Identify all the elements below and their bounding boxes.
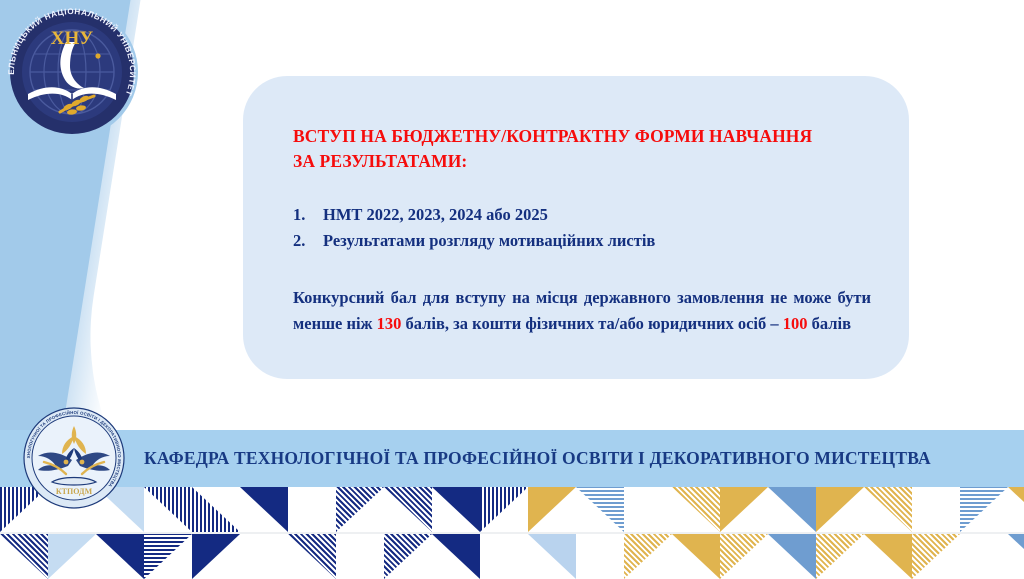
band-row-bottom <box>0 534 1024 579</box>
pattern-triangle <box>816 487 864 532</box>
pattern-triangle <box>384 487 432 532</box>
pattern-triangle <box>240 534 288 579</box>
card-heading-line1: ВСТУП НА БЮДЖЕТНУ/КОНТРАКТНУ ФОРМИ НАВЧА… <box>293 126 812 146</box>
pattern-triangle <box>1008 487 1024 532</box>
card-heading: ВСТУП НА БЮДЖЕТНУ/КОНТРАКТНУ ФОРМИ НАВЧА… <box>293 124 871 174</box>
score-requirement-paragraph: Конкурсний бал для вступу на місця держа… <box>293 285 871 337</box>
pattern-triangle <box>768 487 816 532</box>
pattern-triangle <box>672 534 720 579</box>
list-item-number: 2. <box>293 228 311 255</box>
pattern-triangle <box>1008 534 1024 579</box>
slide-root: ХНУ ХМЕЛЬНИЦЬКИЙ НАЦІОНАЛЬНИЙ УНІВЕРСИТЕ… <box>0 0 1024 579</box>
pattern-triangle <box>384 534 432 579</box>
pattern-triangle <box>768 534 816 579</box>
pattern-triangle <box>336 534 384 579</box>
university-logo: ХНУ ХМЕЛЬНИЦЬКИЙ НАЦІОНАЛЬНИЙ УНІВЕРСИТЕ… <box>2 2 142 142</box>
card-heading-line2: ЗА РЕЗУЛЬТАТАМИ: <box>293 151 467 171</box>
pattern-triangle <box>0 534 48 579</box>
pattern-triangle <box>960 534 1008 579</box>
list-item: 1. НМТ 2022, 2023, 2024 або 2025 <box>293 202 871 229</box>
pattern-triangle <box>528 487 576 532</box>
pattern-triangle <box>816 534 864 579</box>
pattern-triangle <box>480 534 528 579</box>
pattern-triangle <box>96 534 144 579</box>
pattern-triangle <box>144 534 192 579</box>
pattern-triangle <box>864 487 912 532</box>
pattern-triangle <box>912 534 960 579</box>
pattern-triangle <box>480 487 528 532</box>
list-item-label: Результатами розгляду мотиваційних листі… <box>323 228 655 255</box>
pattern-triangle <box>192 534 240 579</box>
department-banner-text: КАФЕДРА ТЕХНОЛОГІЧНОЇ ТА ПРОФЕСІЙНОЇ ОСВ… <box>144 430 931 487</box>
pattern-triangle <box>720 534 768 579</box>
band-row-top <box>0 487 1024 532</box>
pattern-triangle <box>288 534 336 579</box>
list-item-label: НМТ 2022, 2023, 2024 або 2025 <box>323 202 548 229</box>
background-top-white-strip <box>205 0 1024 82</box>
pattern-triangle <box>336 487 384 532</box>
pattern-triangle <box>912 487 960 532</box>
pattern-triangle <box>576 487 624 532</box>
pattern-triangle <box>720 487 768 532</box>
pattern-triangle <box>144 487 192 532</box>
minimum-score-contract: 100 <box>783 314 808 333</box>
pattern-triangle <box>960 487 1008 532</box>
pattern-triangle <box>192 487 240 532</box>
pattern-triangle <box>576 534 624 579</box>
list-item-number: 1. <box>293 202 311 229</box>
pattern-triangle <box>288 487 336 532</box>
pattern-triangle <box>240 487 288 532</box>
paragraph-part-2: балів, за кошти фізичних та/або юридични… <box>401 314 782 333</box>
pattern-triangle <box>624 487 672 532</box>
pattern-triangle <box>528 534 576 579</box>
list-item: 2. Результатами розгляду мотиваційних ли… <box>293 228 871 255</box>
department-banner: КАФЕДРА ТЕХНОЛОГІЧНОЇ ТА ПРОФЕСІЙНОЇ ОСВ… <box>0 430 1024 487</box>
department-logo: КТПОДМ КАФЕДРА ТЕХНОЛОГІЧНОЇ ТА ПРОФЕСІЙ… <box>22 406 126 510</box>
pattern-triangle <box>864 534 912 579</box>
content-card: ВСТУП НА БЮДЖЕТНУ/КОНТРАКТНУ ФОРМИ НАВЧА… <box>243 76 909 379</box>
university-logo-acronym: ХНУ <box>51 28 94 49</box>
pattern-triangle <box>672 487 720 532</box>
pattern-triangle <box>624 534 672 579</box>
pattern-triangle <box>48 534 96 579</box>
pattern-triangle <box>432 534 480 579</box>
decorative-triangle-band <box>0 487 1024 579</box>
admission-criteria-list: 1. НМТ 2022, 2023, 2024 або 2025 2. Резу… <box>293 202 871 255</box>
paragraph-part-3: балів <box>808 314 852 333</box>
pattern-triangle <box>432 487 480 532</box>
department-logo-monogram: КТПОДМ <box>56 487 93 496</box>
minimum-score-budget: 130 <box>377 314 402 333</box>
